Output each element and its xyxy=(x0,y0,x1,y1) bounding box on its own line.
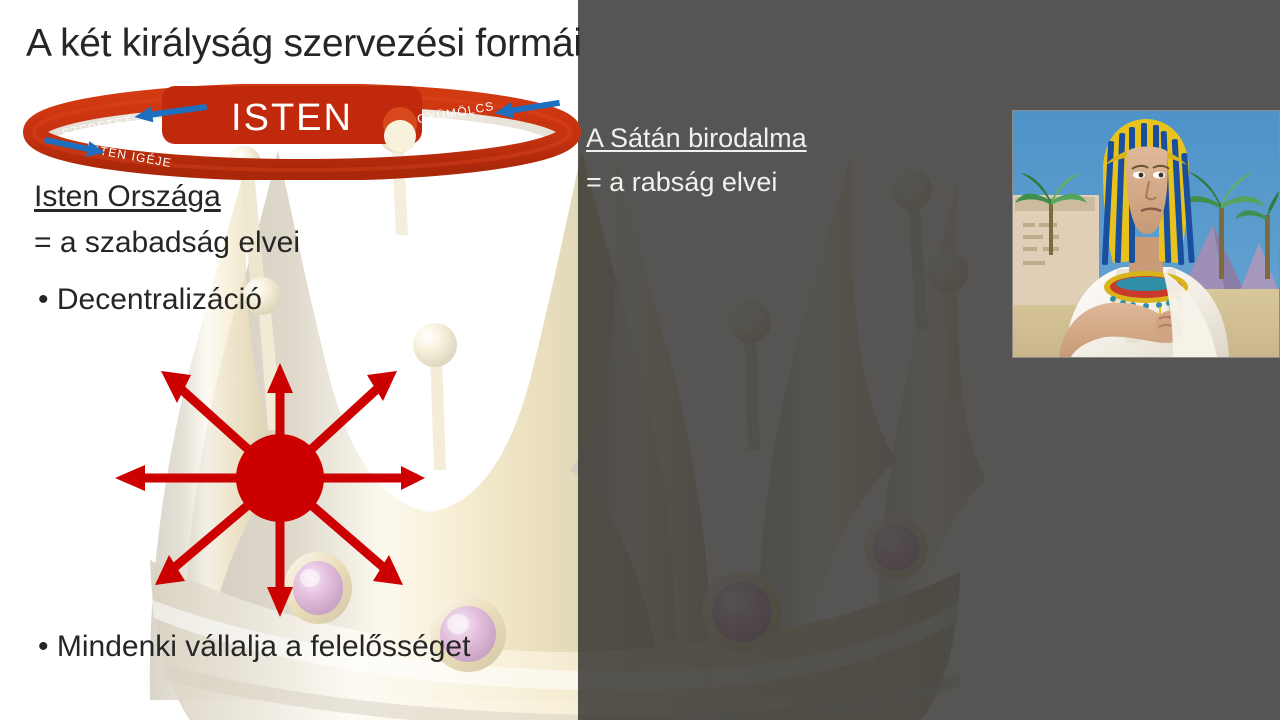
bullet-marker: • xyxy=(38,283,49,316)
dark-overlay-panel xyxy=(578,0,1280,720)
left-column-subheading: = a szabadság elvei xyxy=(34,226,300,260)
pharaoh-illustration xyxy=(1012,110,1280,358)
right-column-heading: A Sátán birodalma xyxy=(586,123,807,154)
bullet-label: Decentralizáció xyxy=(57,283,262,316)
bullet-label: Mindenki vállalja a felelősséget xyxy=(57,630,471,663)
decentralization-starburst xyxy=(105,345,425,635)
page-title: A két királyság szervezési formái xyxy=(26,22,582,66)
left-bullet-item: • Mindenki vállalja a felelősséget xyxy=(38,630,470,664)
right-column-subheading: = a rabság elvei xyxy=(586,167,777,198)
bullet-marker: • xyxy=(38,630,49,663)
left-bullet-item: • Decentralizáció xyxy=(38,283,262,317)
left-column-heading: Isten Országa xyxy=(34,180,221,214)
isten-center-label: ISTEN xyxy=(231,97,353,139)
isten-cycle-diagram: ISTEN SZERETET ISTEN IGÉJE GYÜMÖLCS xyxy=(22,84,582,180)
slide-canvas: A két királyság szervezési formái ISTEN … xyxy=(0,0,1280,720)
